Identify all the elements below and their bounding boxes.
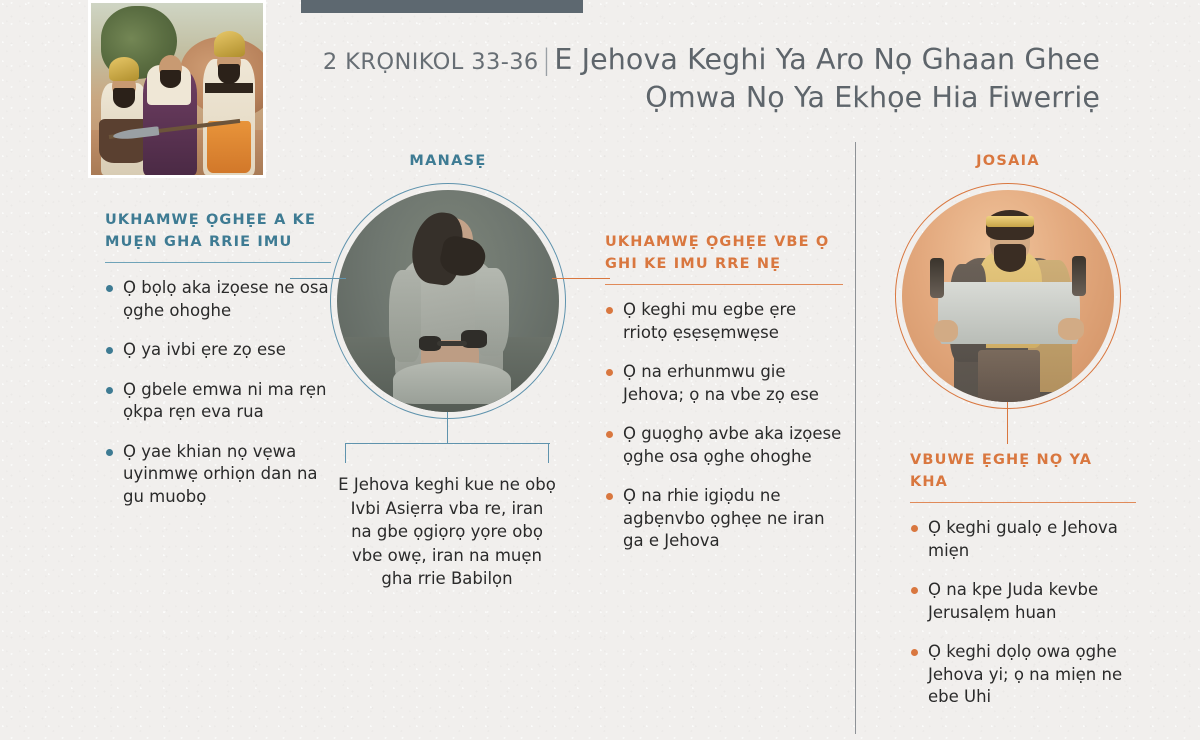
- title-separator: |: [539, 43, 555, 76]
- column-left-list: Ọ bọlọ aka izọese ne osa ọghe ohoghe Ọ y…: [105, 277, 331, 508]
- scripture-reference: 2 KRỌNIKOL 33-36: [323, 49, 539, 75]
- section-divider: [855, 142, 856, 734]
- page-title-line1: E Jehova Keghi Ya Aro Nọ Ghaan Ghee: [554, 43, 1100, 76]
- list-item: Ọ ya ivbi ẹre zọ ese: [105, 339, 331, 362]
- column-middle: UKHAMWẸ ỌGHẸE VBE Ọ GHI KE IMU RRE NẸ Ọ …: [605, 232, 843, 570]
- connector-right: [552, 278, 610, 279]
- column-right: VBUWE ẸGHẸ NỌ YA KHA Ọ keghi gualọ e Jeh…: [910, 450, 1136, 726]
- list-item: Ọ keghi gualọ e Jehova miẹn: [910, 517, 1136, 562]
- josaia-label: JOSAIA: [902, 153, 1114, 169]
- list-item: Ọ keghi mu egbe ẹre rriotọ ẹsẹsẹmwẹse: [605, 299, 843, 344]
- column-middle-rule: [605, 284, 843, 285]
- manasse-label: MANASẸ: [337, 153, 559, 169]
- column-middle-list: Ọ keghi mu egbe ẹre rriotọ ẹsẹsẹmwẹse Ọ …: [605, 299, 843, 553]
- josaia-connector-stem: [1007, 402, 1008, 444]
- column-right-rule: [910, 502, 1136, 503]
- column-middle-heading: UKHAMWẸ ỌGHẸE VBE Ọ GHI KE IMU RRE NẸ: [605, 232, 843, 275]
- list-item: Ọ gbele emwa ni ma rẹn ọkpa rẹn eva rua: [105, 379, 331, 424]
- list-item: Ọ na kpe Juda kevbe Jerusalẹm huan: [910, 579, 1136, 624]
- bracket-stem: [447, 412, 448, 444]
- list-item: Ọ yae khian nọ vẹwa uyinmwẹ orhiọn dan n…: [105, 441, 331, 509]
- top-accent-bar: [301, 0, 583, 13]
- josaia-ring: [895, 183, 1121, 409]
- list-item: Ọ bọlọ aka izọese ne osa ọghe ohoghe: [105, 277, 331, 322]
- column-right-heading: VBUWE ẸGHẸ NỌ YA KHA: [910, 450, 1136, 493]
- list-item: Ọ keghi dọlọ owa ọghe Jehova yi; ọ na mi…: [910, 641, 1136, 709]
- header-illustration-thumbnail: [88, 0, 266, 178]
- list-item: Ọ na rhie igiọdu ne agbẹnvbo ọghẹe ne ir…: [605, 485, 843, 553]
- captive-figure-center: [139, 43, 201, 175]
- list-item: Ọ guọghọ avbe aka izọese ọghe osa ọghe o…: [605, 423, 843, 468]
- soldier-figure-right: [197, 29, 261, 175]
- list-item: Ọ na erhunmwu gie Jehova; ọ na vbe zọ es…: [605, 361, 843, 406]
- bracket-horizontal: [345, 443, 550, 444]
- bracket-left-tick: [345, 443, 346, 463]
- manasse-caption: E Jehova keghi kue ne obọ Ivbi Asiẹrra v…: [338, 473, 556, 591]
- bracket-right-tick: [548, 443, 549, 463]
- page-title-line2: Ọmwa Nọ Ya Ekhọe Hia Fiwerriẹ: [300, 80, 1100, 116]
- column-left-rule: [105, 262, 331, 263]
- column-left: UKHAMWẸ ỌGHẸE A KE MUẸN GHA RRIE IMU Ọ b…: [105, 210, 331, 525]
- title-line-1: 2 KRỌNIKOL 33-36|E Jehova Keghi Ya Aro N…: [300, 42, 1100, 80]
- column-right-list: Ọ keghi gualọ e Jehova miẹn Ọ na kpe Jud…: [910, 517, 1136, 709]
- manasse-ring: [330, 183, 566, 419]
- header-title-block: 2 KRỌNIKOL 33-36|E Jehova Keghi Ya Aro N…: [300, 42, 1100, 116]
- column-left-heading: UKHAMWẸ ỌGHẸE A KE MUẸN GHA RRIE IMU: [105, 210, 331, 253]
